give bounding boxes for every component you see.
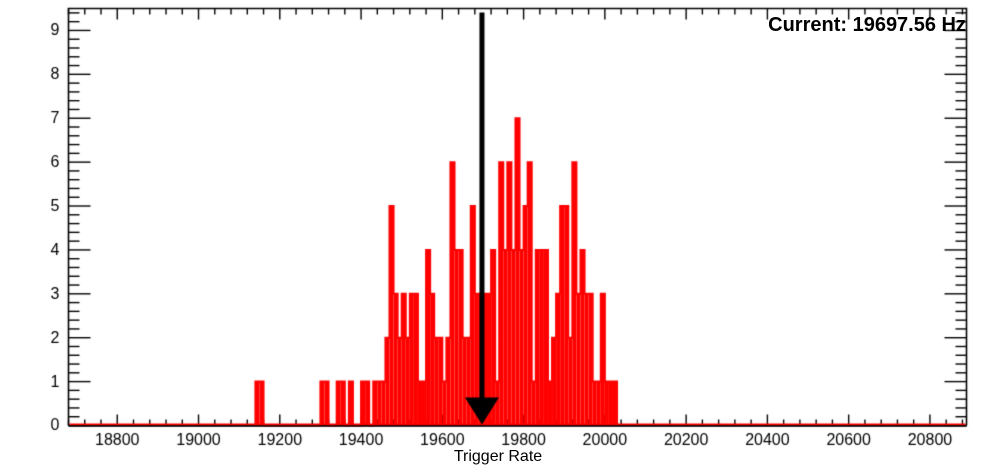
- x-axis-title: Trigger Rate: [0, 448, 996, 466]
- trigger-rate-histogram-canvas[interactable]: [0, 0, 996, 472]
- current-rate-annotation: Current: 19697.56 Hz: [768, 14, 966, 37]
- histogram-page: Current: 19697.56 Hz Trigger Rate: [0, 0, 996, 472]
